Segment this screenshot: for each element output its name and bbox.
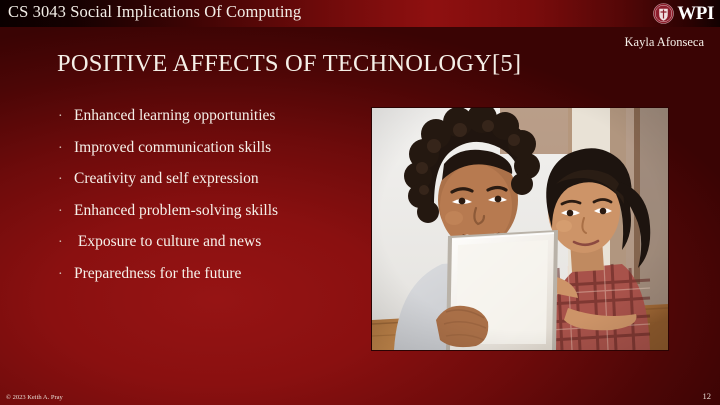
list-item: · Creativity and self expression bbox=[58, 171, 358, 203]
list-item: · Exposure to culture and news bbox=[58, 234, 358, 266]
list-item-label: Enhanced problem-solving skills bbox=[74, 203, 278, 219]
list-item: · Preparedness for the future bbox=[58, 266, 358, 298]
list-item-label: Improved communication skills bbox=[74, 140, 271, 156]
list-item: · Enhanced problem-solving skills bbox=[58, 203, 358, 235]
woman-and-girl-with-tablet-photo bbox=[371, 107, 669, 351]
bullet-dot-icon: · bbox=[58, 110, 74, 124]
presentation-slide: CS 3043 Social Implications Of Computing… bbox=[0, 0, 720, 405]
page-number: 12 bbox=[703, 391, 712, 401]
bullet-dot-icon: · bbox=[58, 205, 74, 219]
list-item-label: Exposure to culture and news bbox=[74, 234, 261, 250]
list-item: · Enhanced learning opportunities bbox=[58, 108, 358, 140]
slide-title: POSITIVE AFFECTS OF TECHNOLOGY[5] bbox=[57, 50, 521, 78]
list-item: · Improved communication skills bbox=[58, 140, 358, 172]
slide-header-bar: CS 3043 Social Implications Of Computing… bbox=[0, 0, 720, 27]
list-item-label: Preparedness for the future bbox=[74, 266, 241, 282]
bullet-dot-icon: · bbox=[58, 173, 74, 187]
list-item-label: Creativity and self expression bbox=[74, 171, 259, 187]
bullet-dot-icon: · bbox=[58, 268, 74, 282]
author-name: Kayla Afonseca bbox=[625, 35, 704, 50]
bullet-dot-icon: · bbox=[58, 142, 74, 156]
bullet-dot-icon: · bbox=[58, 236, 74, 250]
bullet-list: · Enhanced learning opportunities · Impr… bbox=[58, 108, 358, 297]
list-item-label: Enhanced learning opportunities bbox=[74, 108, 275, 124]
course-title: CS 3043 Social Implications Of Computing bbox=[8, 2, 301, 22]
wpi-logo: WPI bbox=[653, 1, 714, 26]
wpi-seal-icon bbox=[653, 3, 674, 24]
copyright-notice: © 2023 Keith A. Pray bbox=[6, 394, 63, 401]
wpi-wordmark: WPI bbox=[677, 4, 714, 23]
